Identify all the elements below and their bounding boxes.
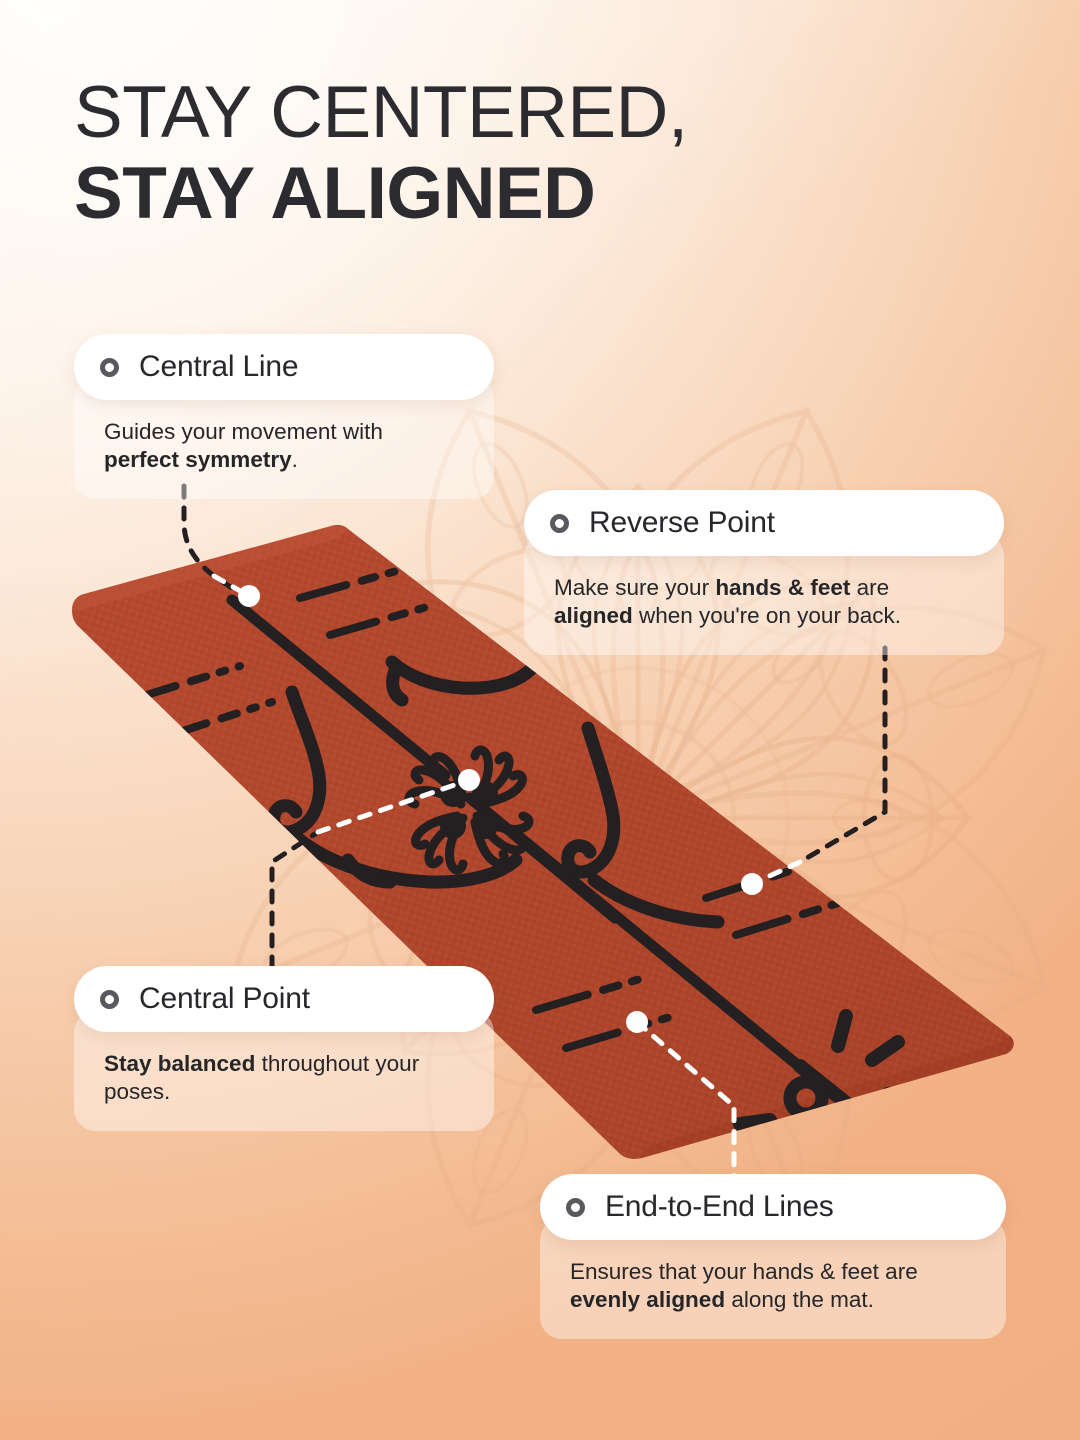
ring-icon bbox=[550, 514, 569, 533]
callout-central-line-title: Central Line bbox=[139, 350, 298, 384]
ring-icon bbox=[566, 1198, 585, 1217]
ring-icon bbox=[100, 990, 119, 1009]
page-title-line-2: STAY ALIGNED bbox=[74, 159, 974, 230]
callout-reverse-point[interactable]: Reverse Point Make sure your hands & fee… bbox=[524, 490, 1004, 655]
callout-central-point[interactable]: Central Point Stay balanced throughout y… bbox=[74, 966, 494, 1131]
callout-central-point-header[interactable]: Central Point bbox=[74, 966, 494, 1032]
callout-central-point-title: Central Point bbox=[139, 982, 310, 1016]
ring-icon bbox=[100, 358, 119, 377]
page-title: STAY CENTERED, STAY ALIGNED bbox=[74, 78, 974, 230]
callout-end-to-end-header[interactable]: End-to-End Lines bbox=[540, 1174, 1006, 1240]
callout-reverse-point-title: Reverse Point bbox=[589, 506, 775, 540]
callout-central-line[interactable]: Central Line Guides your movement with p… bbox=[74, 334, 494, 499]
page-title-line-1: STAY CENTERED, bbox=[74, 78, 974, 149]
callout-end-to-end[interactable]: End-to-End Lines Ensures that your hands… bbox=[540, 1174, 1006, 1339]
callout-reverse-point-header[interactable]: Reverse Point bbox=[524, 490, 1004, 556]
callout-central-line-header[interactable]: Central Line bbox=[74, 334, 494, 400]
callout-end-to-end-title: End-to-End Lines bbox=[605, 1190, 834, 1224]
